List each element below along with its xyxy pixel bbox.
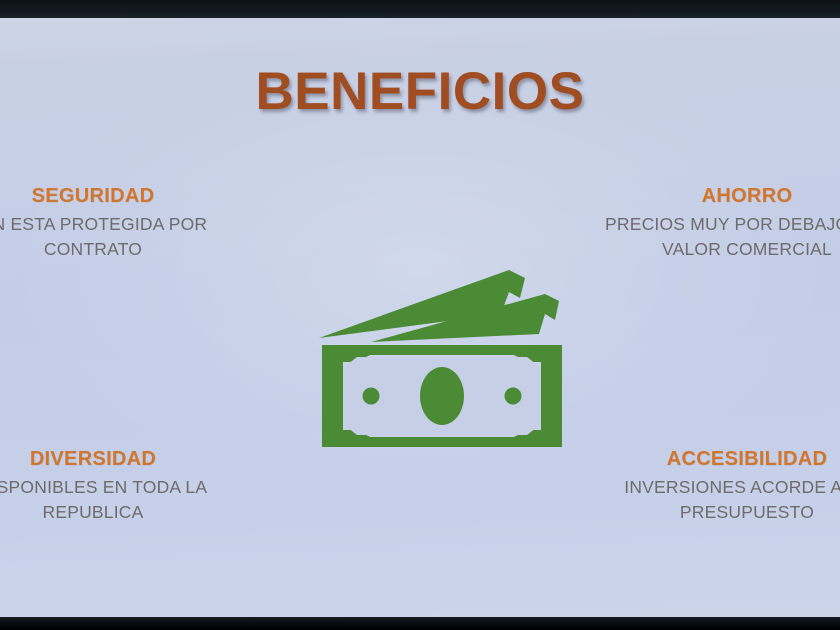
banknote-right-dot-icon [505, 388, 522, 405]
benefit-heading-diversidad: DIVERSIDAD [0, 447, 248, 472]
video-frame: BENEFICIOS SEGURIDAD ÓN ESTA PROTEGIDA P… [0, 0, 840, 630]
benefit-block-seguridad: SEGURIDAD ÓN ESTA PROTEGIDA POR CONTRATO [0, 184, 248, 262]
benefit-body-line: ÓN ESTA PROTEGIDA POR [0, 212, 248, 237]
benefit-block-ahorro: AHORRO PRECIOS MUY POR DEBAJO DEL VALOR … [592, 184, 840, 262]
benefit-body-diversidad: DISPONIBLES EN TODA LA REPUBLICA [0, 475, 248, 525]
banknote-left-dot-icon [363, 388, 380, 405]
money-cash-icon [313, 256, 571, 456]
presentation-slide: BENEFICIOS SEGURIDAD ÓN ESTA PROTEGIDA P… [0, 18, 840, 617]
letterbox-bar-top [0, 0, 840, 18]
benefit-block-accesibilidad: ACCESIBILIDAD INVERSIONES ACORDE A TU PR… [592, 447, 840, 525]
benefit-block-diversidad: DIVERSIDAD DISPONIBLES EN TODA LA REPUBL… [0, 447, 248, 525]
benefit-body-ahorro: PRECIOS MUY POR DEBAJO DEL VALOR COMERCI… [592, 212, 840, 262]
benefit-heading-accesibilidad: ACCESIBILIDAD [592, 447, 840, 472]
benefit-body-line: CONTRATO [0, 237, 248, 262]
benefit-body-line: VALOR COMERCIAL [592, 237, 840, 262]
benefit-heading-ahorro: AHORRO [592, 184, 840, 209]
benefit-heading-seguridad: SEGURIDAD [0, 184, 248, 209]
benefit-body-line: DISPONIBLES EN TODA LA [0, 475, 248, 500]
benefit-body-line: PRECIOS MUY POR DEBAJO DEL [592, 212, 840, 237]
benefit-body-line: REPUBLICA [0, 500, 248, 525]
letterbox-bar-bottom [0, 617, 840, 630]
benefit-body-seguridad: ÓN ESTA PROTEGIDA POR CONTRATO [0, 212, 248, 262]
benefit-body-line: PRESUPUESTO [592, 500, 840, 525]
benefit-body-line: INVERSIONES ACORDE A TU [592, 475, 840, 500]
benefit-body-accesibilidad: INVERSIONES ACORDE A TU PRESUPUESTO [592, 475, 840, 525]
banknote-center-oval-icon [420, 367, 464, 425]
page-title: BENEFICIOS [0, 65, 840, 118]
